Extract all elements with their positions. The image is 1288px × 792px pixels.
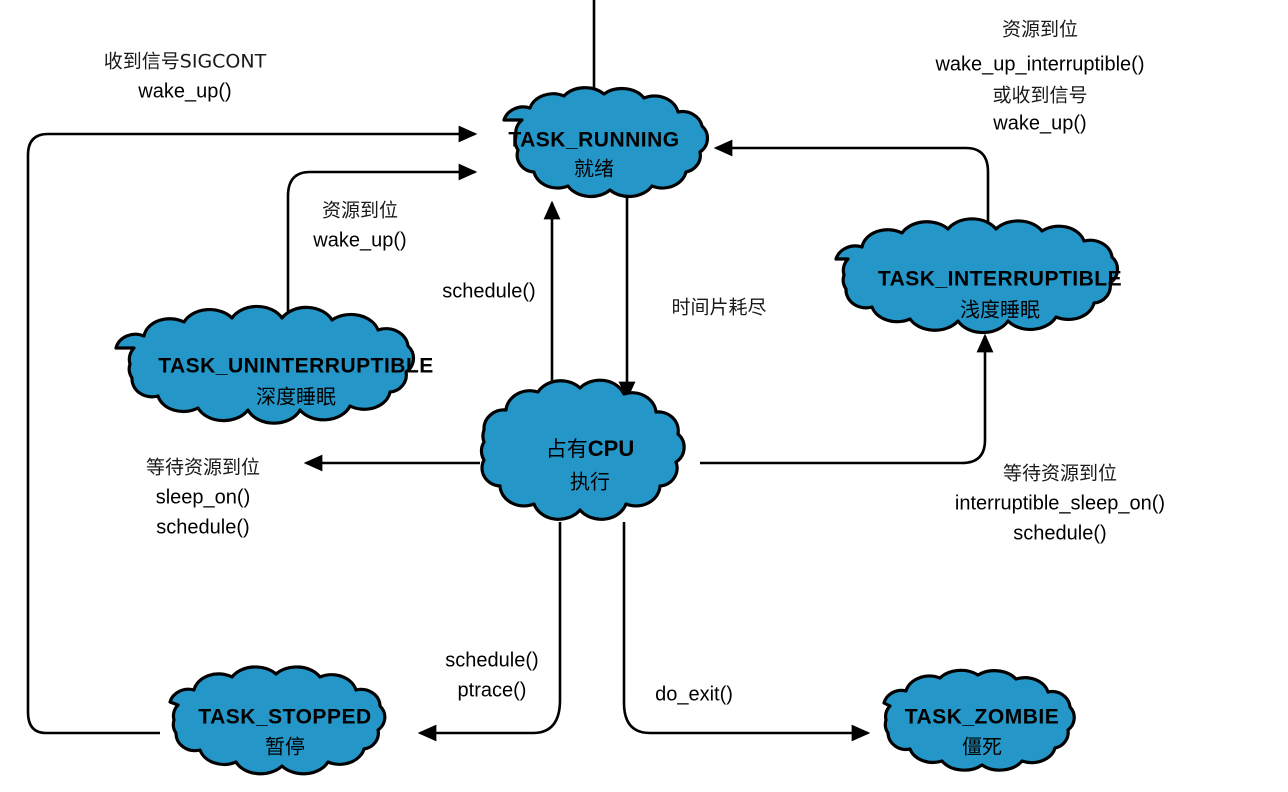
node-cpu-executing[interactable]: 占有CPU 执行 [481, 380, 684, 519]
edge-label-line: 资源到位 [322, 200, 398, 222]
edge-label-uninterruptible-to-running: 资源到位 wake_up() [312, 200, 406, 252]
edge-label-line: schedule() [442, 280, 535, 302]
node-task-zombie[interactable]: TASK_ZOMBIE 僵死 [884, 670, 1074, 770]
edge-label-line: 等待资源到位 [1003, 463, 1117, 485]
edge-label-line: wake_up() [137, 80, 231, 102]
edge-label-line: wake_up() [312, 229, 406, 251]
process-state-diagram: TASK_RUNNING 就绪 TASK_UNINTERRUPTIBLE 深度睡… [0, 0, 1288, 792]
edge-label-line: 资源到位 [1002, 19, 1078, 41]
node-label-cpu-cn: 执行 [570, 470, 610, 494]
edge-label-line: schedule() [1013, 522, 1106, 544]
edge-label-stopped-to-running: 收到信号SIGCONT wake_up() [104, 51, 267, 103]
edge-label-line: wake_up() [992, 112, 1086, 134]
node-task-interruptible[interactable]: TASK_INTERRUPTIBLE 浅度睡眠 [836, 219, 1122, 333]
edge-cpu-to-interruptible [700, 336, 985, 463]
edge-label-line: ptrace() [458, 679, 527, 701]
node-task-running[interactable]: TASK_RUNNING 就绪 [504, 88, 707, 197]
node-label-uninterruptible-cn: 深度睡眠 [256, 385, 336, 409]
node-label-stopped-en: TASK_STOPPED [198, 706, 371, 729]
edge-stopped-to-running [28, 134, 475, 733]
node-task-uninterruptible[interactable]: TASK_UNINTERRUPTIBLE 深度睡眠 [116, 306, 434, 423]
edge-label-cpu-to-stopped: schedule() ptrace() [445, 649, 538, 701]
edge-label-cpu-to-running: schedule() [442, 280, 535, 302]
nodes-layer: TASK_RUNNING 就绪 TASK_UNINTERRUPTIBLE 深度睡… [116, 88, 1122, 774]
node-label-zombie-en: TASK_ZOMBIE [905, 706, 1059, 729]
edge-label-line: do_exit() [655, 683, 733, 705]
edge-cpu-to-stopped [420, 522, 560, 733]
node-label-interruptible-cn: 浅度睡眠 [960, 298, 1040, 322]
edge-label-line: schedule() [445, 649, 538, 671]
edge-label-line: interruptible_sleep_on() [955, 492, 1165, 514]
node-label-zombie-cn: 僵死 [962, 735, 1002, 759]
node-label-running-en: TASK_RUNNING [508, 129, 679, 152]
edge-label-cpu-to-uninterruptible: 等待资源到位 sleep_on() schedule() [146, 457, 260, 539]
edge-label-line: wake_up_interruptible() [934, 53, 1144, 75]
node-label-running-cn: 就绪 [574, 157, 614, 181]
node-label-stopped-cn: 暂停 [265, 735, 305, 759]
edge-label-interruptible-to-running: 资源到位 wake_up_interruptible() 或收到信号 wake_… [934, 19, 1144, 135]
node-label-cpu-en: 占有CPU [546, 436, 634, 461]
edge-label-line: schedule() [156, 516, 249, 538]
edge-label-cpu-to-zombie: do_exit() [655, 683, 733, 705]
node-label-interruptible-en: TASK_INTERRUPTIBLE [878, 268, 1122, 291]
edge-label-cpu-to-interruptible: 等待资源到位 interruptible_sleep_on() schedule… [955, 463, 1165, 545]
edge-label-line: 或收到信号 [992, 85, 1087, 107]
edge-label-line: 时间片耗尽 [671, 297, 766, 319]
node-label-uninterruptible-en: TASK_UNINTERRUPTIBLE [158, 355, 434, 378]
edge-label-running-to-cpu: 时间片耗尽 [671, 297, 766, 319]
edge-label-line: 收到信号SIGCONT [104, 51, 267, 73]
edge-label-line: 等待资源到位 [146, 457, 260, 479]
node-task-stopped[interactable]: TASK_STOPPED 暂停 [170, 667, 385, 774]
edge-label-line: sleep_on() [156, 486, 251, 508]
